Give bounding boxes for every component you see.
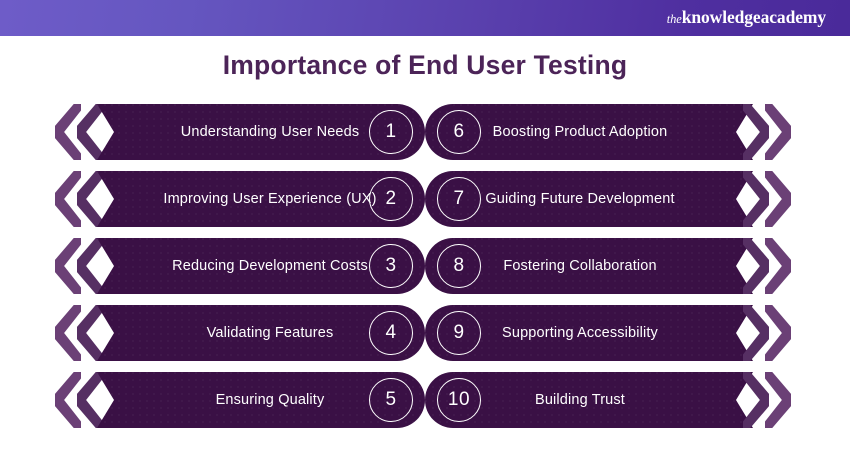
item-number-badge: 6: [437, 110, 481, 154]
chevron-group-right: [743, 372, 795, 428]
chevron-group-right: [743, 305, 795, 361]
chevron-group-left: [55, 372, 107, 428]
list-item[interactable]: Building Trust 10: [425, 372, 795, 428]
brand-logo-the: the: [667, 12, 682, 26]
chevron-group-right: [743, 238, 795, 294]
list-item[interactable]: Improving User Experience (UX) 2: [55, 171, 425, 227]
chevron-left-icon: [77, 104, 103, 160]
chevron-right-icon: [765, 238, 791, 294]
chevron-right-icon: [765, 104, 791, 160]
item-number-badge: 5: [369, 378, 413, 422]
infographic-page: theknowledgeacademy Importance of End Us…: [0, 0, 850, 450]
chevron-right-icon: [765, 171, 791, 227]
list-item[interactable]: Reducing Development Costs 3: [55, 238, 425, 294]
chevron-left-icon: [77, 305, 103, 361]
header-bar: theknowledgeacademy: [0, 0, 850, 36]
item-number-badge: 7: [437, 177, 481, 221]
item-number-badge: 1: [369, 110, 413, 154]
right-column: Boosting Product Adoption 6 Guiding Futu…: [425, 104, 795, 439]
chevron-left-icon: [77, 372, 103, 428]
list-item[interactable]: Guiding Future Development 7: [425, 171, 795, 227]
page-title: Importance of End User Testing: [0, 50, 850, 81]
chevron-right-icon: [765, 372, 791, 428]
item-number-badge: 9: [437, 311, 481, 355]
list-item[interactable]: Boosting Product Adoption 6: [425, 104, 795, 160]
list-item[interactable]: Validating Features 4: [55, 305, 425, 361]
left-column: Understanding User Needs 1 Improving Use…: [55, 104, 425, 439]
brand-logo: theknowledgeacademy: [667, 9, 826, 27]
chevron-group-left: [55, 171, 107, 227]
list-item[interactable]: Fostering Collaboration 8: [425, 238, 795, 294]
chevron-right-icon: [765, 305, 791, 361]
item-number-badge: 8: [437, 244, 481, 288]
chevron-left-icon: [77, 238, 103, 294]
item-number-badge: 2: [369, 177, 413, 221]
chevron-group-left: [55, 104, 107, 160]
brand-logo-name: knowledgeacademy: [682, 7, 826, 27]
chevron-group-left: [55, 238, 107, 294]
chevron-group-left: [55, 305, 107, 361]
list-item[interactable]: Understanding User Needs 1: [55, 104, 425, 160]
list-item[interactable]: Supporting Accessibility 9: [425, 305, 795, 361]
item-number-badge: 4: [369, 311, 413, 355]
item-number-badge: 3: [369, 244, 413, 288]
chevron-group-right: [743, 171, 795, 227]
chevron-group-right: [743, 104, 795, 160]
item-number-badge: 10: [437, 378, 481, 422]
list-item[interactable]: Ensuring Quality 5: [55, 372, 425, 428]
chevron-left-icon: [77, 171, 103, 227]
